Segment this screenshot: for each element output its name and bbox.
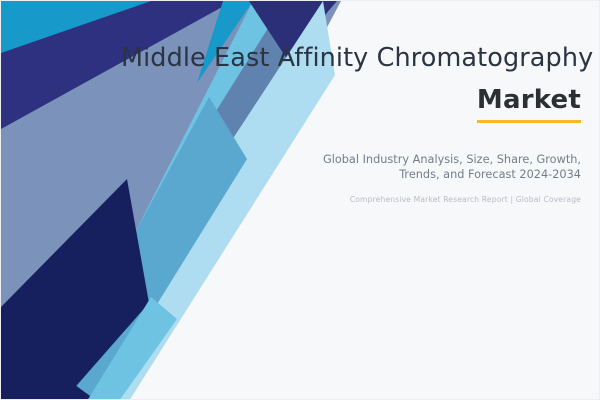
subtitle-line-1: Global Industry Analysis, Size, Share, G… bbox=[323, 153, 581, 166]
title-emphasis-label: Market bbox=[477, 85, 581, 115]
subtitle-line-2: Trends, and Forecast 2024-2034 bbox=[121, 168, 581, 183]
cover-tagline: Comprehensive Market Research Report | G… bbox=[121, 194, 581, 205]
page-title: Middle East Affinity Chromatography bbox=[121, 43, 581, 73]
accent-underline bbox=[477, 120, 581, 123]
title-emphasis-wrapper: Market bbox=[121, 84, 581, 123]
cover-text-block: Middle East Affinity Chromatography Mark… bbox=[121, 1, 581, 400]
report-cover: Middle East Affinity Chromatography Mark… bbox=[0, 0, 600, 400]
title-emphasis-word: Market bbox=[477, 84, 581, 123]
cover-subtitle: Global Industry Analysis, Size, Share, G… bbox=[121, 153, 581, 182]
